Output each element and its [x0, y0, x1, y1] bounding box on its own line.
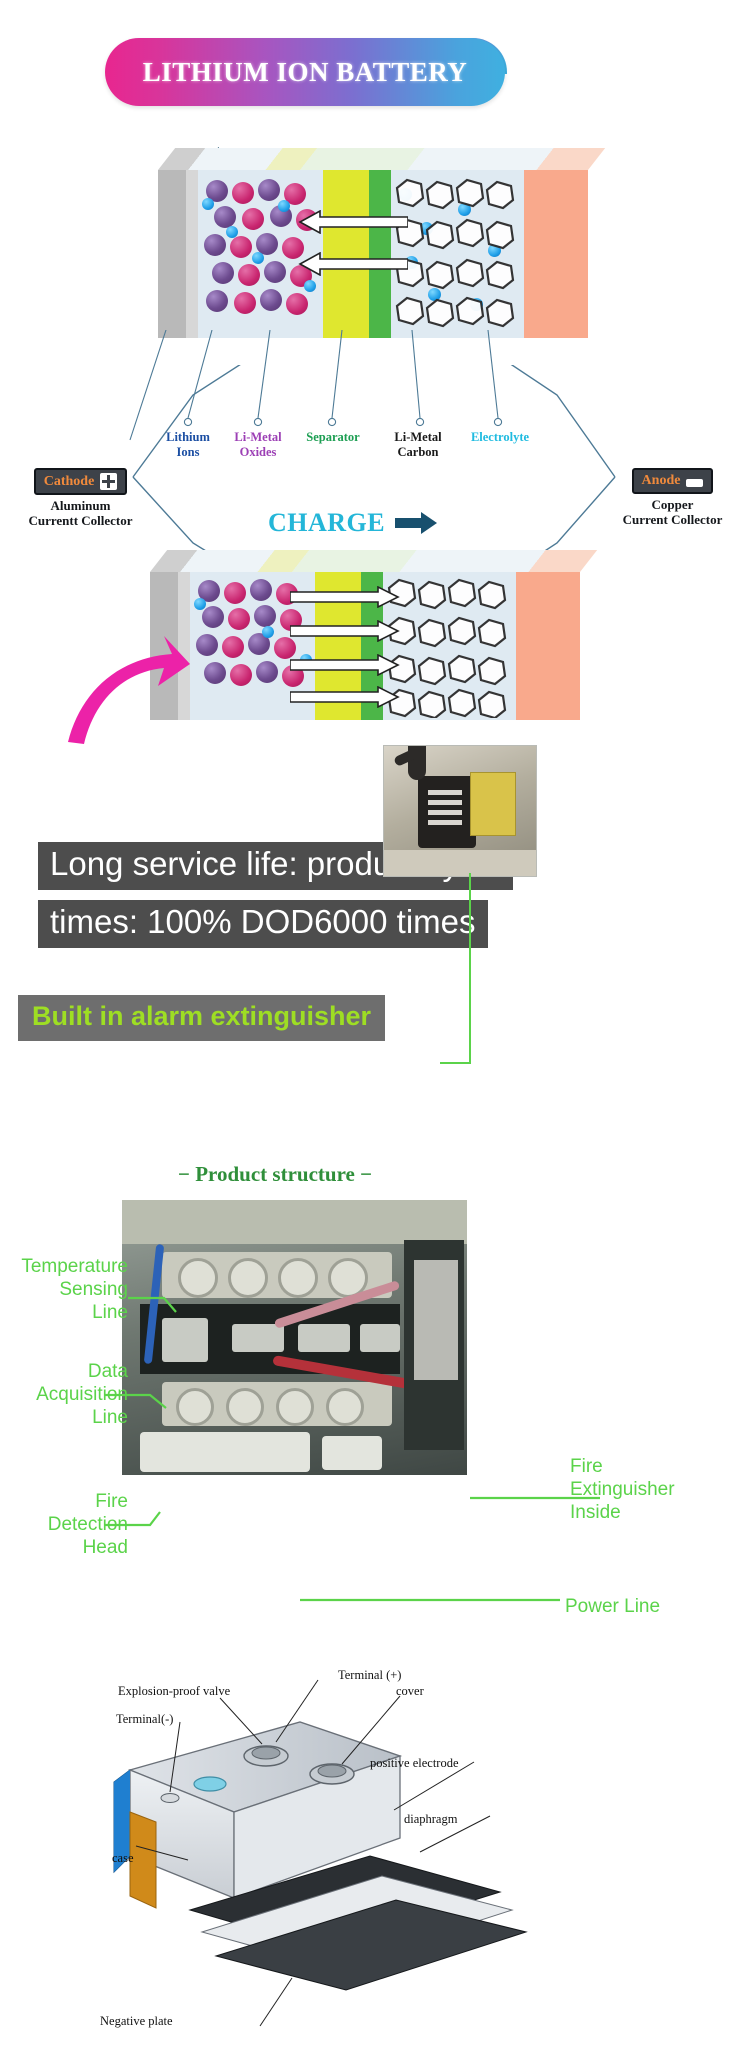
ion-particle [202, 606, 224, 628]
anode-callout: Anode Copper Current Collector [600, 468, 745, 527]
cathode-sub-line1: Aluminum [8, 498, 153, 513]
arrow-right-icon [395, 512, 437, 534]
anode-badge: Anode [632, 468, 714, 494]
layer-aluminum-collector [158, 170, 186, 338]
ion-particle [260, 289, 282, 311]
ion-particle [230, 664, 252, 686]
anode-badge-label: Anode [642, 473, 681, 489]
anode-sub-line1: Copper [600, 497, 745, 512]
pink-swoosh-arrow-icon [60, 620, 190, 750]
ion-particle [234, 292, 256, 314]
ion-particle [232, 182, 254, 204]
charge-label-text: CHARGE [268, 508, 385, 538]
ion-particle [254, 605, 276, 627]
ion-flow-arrow [290, 586, 400, 608]
battery-cell-discharge [158, 148, 588, 338]
ion-particle [222, 636, 244, 658]
layer-electrolyte [524, 170, 588, 338]
label-explosion-proof-valve: Explosion-proof valve [118, 1684, 230, 1699]
cathode-callout: Cathode Aluminum Currentt Collector [8, 468, 153, 528]
infographic-page: LITHIUM ION BATTERY DISCHARGE [0, 0, 750, 2068]
ion-flow-arrow [290, 620, 400, 642]
cell-top-face [158, 148, 605, 170]
label-terminal-positive: Terminal (+) [338, 1668, 401, 1683]
cathode-badge: Cathode [34, 468, 128, 495]
lithium-ion-particle [304, 280, 316, 292]
title-banner: LITHIUM ION BATTERY [105, 38, 505, 106]
service-life-band-line2: times: 100% DOD6000 times [38, 900, 488, 948]
lithium-ion-particle [278, 200, 290, 212]
ion-particle [206, 290, 228, 312]
lithium-ion-particle [226, 226, 238, 238]
label-terminal-negative: Terminal(-) [116, 1712, 173, 1727]
layer-electrolyte [516, 572, 580, 720]
ion-particle [238, 264, 260, 286]
plus-sign-icon [100, 473, 117, 490]
ion-flow-arrow [290, 654, 400, 676]
label-negative-plate: Negative plate [100, 2014, 173, 2029]
ion-particle [224, 582, 246, 604]
ion-particle [256, 661, 278, 683]
ion-particle [204, 662, 226, 684]
ion-particle [204, 234, 226, 256]
lithium-ion-particle [202, 198, 214, 210]
ion-particle [196, 634, 218, 656]
anode-sub-line2: Current Collector [600, 512, 745, 527]
charge-label: CHARGE [268, 508, 437, 538]
title-banner-text: LITHIUM ION BATTERY [143, 57, 468, 88]
ion-particle [228, 608, 250, 630]
alarm-extinguisher-band: Built in alarm extinguisher [18, 995, 385, 1041]
ion-particle [250, 579, 272, 601]
label-positive-electrode: positive electrode [370, 1756, 459, 1771]
ion-flow-arrow [298, 210, 408, 234]
lithium-ion-particle [252, 252, 264, 264]
alarm-photo-leader-line [440, 873, 530, 1083]
ion-particle [242, 208, 264, 230]
battery-cell-charge [150, 550, 580, 720]
ion-particle [212, 262, 234, 284]
label-case: case [112, 1851, 134, 1866]
alarm-extinguisher-photo [383, 745, 537, 877]
ion-flow-arrow [298, 252, 408, 276]
lithium-ion-particle [262, 626, 274, 638]
ion-particle [230, 236, 252, 258]
minus-sign-icon [686, 479, 703, 487]
cathode-sub-line2: Currentt Collector [8, 513, 153, 528]
ion-flow-arrow [290, 686, 400, 708]
cathode-badge-label: Cathode [44, 474, 95, 490]
callout-connector-lines [0, 1180, 750, 1680]
lithium-ion-particle [194, 598, 206, 610]
ion-particle [214, 206, 236, 228]
carbon-hex-mesh [391, 174, 524, 334]
ion-particle [258, 179, 280, 201]
cell-bottom-top-face [150, 550, 597, 572]
ion-particle [264, 261, 286, 283]
layer-aluminum-inner [186, 170, 198, 338]
label-diaphragm: diaphragm [404, 1812, 457, 1827]
label-cover: cover [396, 1684, 424, 1699]
ion-particle [286, 293, 308, 315]
carbon-hex-mesh [383, 576, 516, 718]
